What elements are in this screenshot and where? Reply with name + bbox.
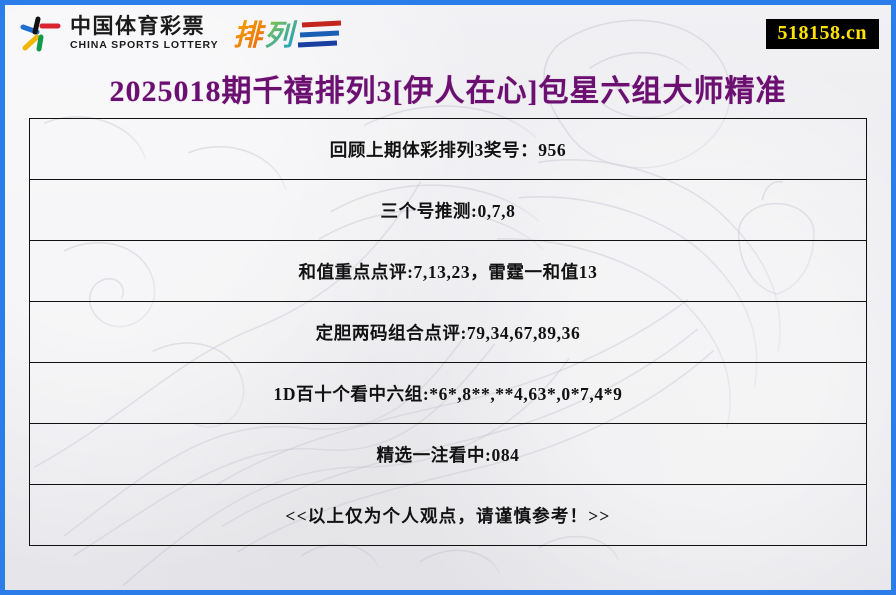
svg-text:排: 排 xyxy=(233,20,267,52)
table-row: 精选一注看中:084 xyxy=(30,424,867,485)
row-three-number-forecast: 三个号推测:0,7,8 xyxy=(30,180,867,241)
row-review-last-draw: 回顾上期体彩排列3奖号：956 xyxy=(30,119,867,180)
china-sports-lottery-logo-icon xyxy=(19,15,61,53)
table-row: 1D百十个看中六组:*6*,8**,**4,63*,0*7,4*9 xyxy=(30,363,867,424)
prediction-table: 回顾上期体彩排列3奖号：956 三个号推测:0,7,8 和值重点点评:7,13,… xyxy=(29,118,867,546)
row-selected-single-bet: 精选一注看中:084 xyxy=(30,424,867,485)
site-url-badge[interactable]: 518158.cn xyxy=(766,19,880,49)
row-1d-six-groups: 1D百十个看中六组:*6*,8**,**4,63*,0*7,4*9 xyxy=(30,363,867,424)
row-two-code-combo-comment: 定胆两码组合点评:79,34,67,89,36 xyxy=(30,302,867,363)
brand-name-cn: 中国体育彩票 xyxy=(70,16,218,37)
brand-block[interactable]: 中国体育彩票 CHINA SPORTS LOTTERY 排 列 xyxy=(19,14,345,54)
row-disclaimer: <<以上仅为个人观点，请谨慎参考！>> xyxy=(30,485,867,546)
table-row: 和值重点点评:7,13,23，雷霆一和值13 xyxy=(30,241,867,302)
table-row: 回顾上期体彩排列3奖号：956 xyxy=(30,119,867,180)
table-row: 三个号推测:0,7,8 xyxy=(30,180,867,241)
site-header: 中国体育彩票 CHINA SPORTS LOTTERY 排 列 xyxy=(5,5,891,62)
table-row: <<以上仅为个人观点，请谨慎参考！>> xyxy=(30,485,867,546)
page-title: 2025018期千禧排列3[伊人在心]包星六组大师精准 xyxy=(5,66,891,110)
row-sum-value-comment: 和值重点点评:7,13,23，雷霆一和值13 xyxy=(30,241,867,302)
brand-wordmark: 中国体育彩票 CHINA SPORTS LOTTERY xyxy=(70,16,218,51)
table-row: 定胆两码组合点评:79,34,67,89,36 xyxy=(30,302,867,363)
page-frame: 中国体育彩票 CHINA SPORTS LOTTERY 排 列 xyxy=(0,0,896,595)
prediction-table-wrapper: 回顾上期体彩排列3奖号：956 三个号推测:0,7,8 和值重点点评:7,13,… xyxy=(29,118,867,546)
pailie-san-series-logo-icon: 排 列 xyxy=(233,14,345,54)
svg-text:列: 列 xyxy=(264,20,298,52)
brand-name-en: CHINA SPORTS LOTTERY xyxy=(70,40,218,51)
